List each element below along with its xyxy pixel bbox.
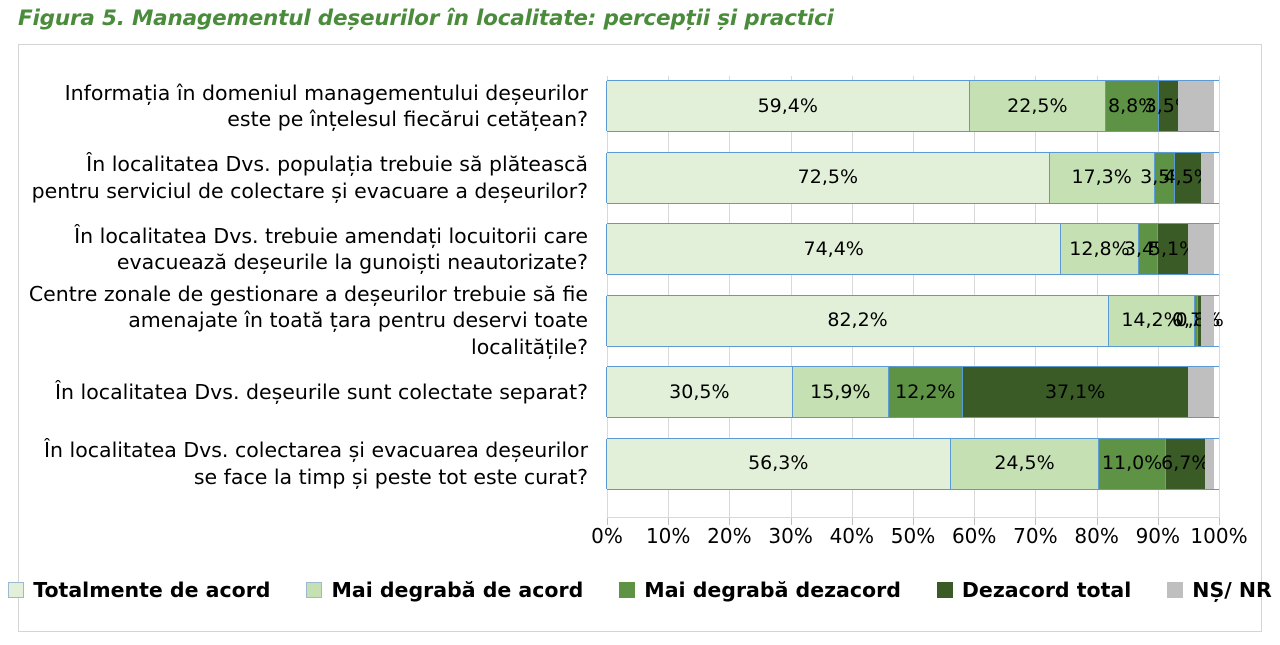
stacked-bar-row[interactable]: 74,4%12,8%3,4%5,1% [607, 223, 1219, 275]
bar-segment[interactable] [1205, 439, 1214, 489]
x-axis-tick-label: 10% [646, 524, 690, 548]
bar-segment[interactable]: 30,5% [606, 367, 793, 417]
stacked-bar-row[interactable]: 82,2%14,2%0,7%0,8% [607, 295, 1219, 347]
bar-segment-label: 56,3% [748, 454, 808, 473]
bar-segment[interactable]: 17,3% [1049, 153, 1155, 203]
figure-page: Figura 5. Managementul deșeurilor în loc… [0, 0, 1280, 645]
x-axis-tick-label: 20% [707, 524, 751, 548]
category-label: În localitatea Dvs. colectarea și evacua… [28, 437, 588, 491]
x-axis-tick-label: 90% [1136, 524, 1180, 548]
category-label: Informația în domeniul managementului de… [28, 79, 588, 133]
x-axis-tick-label: 100% [1190, 524, 1247, 548]
legend-label: Mai degrabă de acord [331, 578, 583, 602]
stacked-bar-row[interactable]: 72,5%17,3%3,5%4,5% [607, 152, 1219, 204]
legend-item[interactable]: Totalmente de acord [8, 578, 270, 602]
legend-item[interactable]: Dezacord total [937, 578, 1131, 602]
bar-segment[interactable]: 37,1% [962, 367, 1189, 417]
bar-segment[interactable] [1201, 296, 1214, 346]
bar-segment[interactable]: 74,4% [606, 224, 1061, 274]
bar-segment-label: 82,2% [827, 311, 887, 330]
bar-segment[interactable] [1188, 224, 1214, 274]
bar-segment-label: 12,8% [1069, 240, 1129, 259]
legend-label: Totalmente de acord [33, 578, 270, 602]
bar-segment[interactable]: 15,9% [792, 367, 889, 417]
legend-label: Mai degrabă dezacord [644, 578, 901, 602]
bar-segment[interactable]: 5,1% [1157, 224, 1188, 274]
gridline [1219, 76, 1220, 518]
category-label: În localitatea Dvs. trebuie amendați loc… [28, 222, 588, 276]
x-axis-tick-labels: 0%10%20%30%40%50%60%70%80%90%100% [607, 524, 1219, 554]
legend-item[interactable]: Mai degrabă dezacord [619, 578, 901, 602]
legend-swatch-icon [1167, 582, 1183, 598]
legend-item[interactable]: Mai degrabă de acord [306, 578, 583, 602]
bar-segment-label: 0,8% [1176, 311, 1224, 330]
bar-segment-label: 22,5% [1007, 97, 1067, 116]
bar-segment[interactable]: 4,5% [1174, 153, 1202, 203]
bar-segment-label: 72,5% [798, 168, 858, 187]
bar-segment[interactable]: 22,5% [969, 81, 1107, 131]
bar-segment-label: 59,4% [758, 97, 818, 116]
x-axis-tick-label: 50% [891, 524, 935, 548]
stacked-bar-row[interactable]: 56,3%24,5%11,0%6,7% [607, 438, 1219, 490]
category-label: În localitatea Dvs. populația trebuie să… [28, 151, 588, 205]
bar-segment[interactable]: 24,5% [950, 439, 1100, 489]
legend-label: Dezacord total [962, 578, 1131, 602]
category-label: În localitatea Dvs. deșeurile sunt colec… [28, 365, 588, 419]
bar-segment-label: 17,3% [1071, 168, 1131, 187]
bar-segment[interactable]: 59,4% [606, 81, 970, 131]
bar-segment[interactable]: 3,5% [1158, 81, 1179, 131]
stacked-bar-row[interactable]: 59,4%22,5%8,8%3,5% [607, 80, 1219, 132]
bar-segment[interactable]: 12,2% [888, 367, 963, 417]
legend-swatch-icon [619, 582, 635, 598]
bar-segment-label: 6,7% [1161, 454, 1209, 473]
legend-swatch-icon [937, 582, 953, 598]
bar-segment-label: 12,2% [895, 383, 955, 402]
x-axis-tick-label: 40% [830, 524, 874, 548]
x-axis-tick-label: 80% [1074, 524, 1118, 548]
plot-inner: 59,4%22,5%8,8%3,5%72,5%17,3%3,5%4,5%74,4… [607, 76, 1219, 518]
x-axis-tick-label: 0% [591, 524, 623, 548]
bar-segment[interactable] [1178, 81, 1213, 131]
bar-segment-label: 15,9% [810, 383, 870, 402]
bar-segment[interactable]: 72,5% [606, 153, 1050, 203]
page-title: Figura 5. Managementul deșeurilor în loc… [18, 6, 1248, 31]
chart-legend: Totalmente de acordMai degrabă de acordM… [0, 578, 1280, 602]
bar-segment[interactable]: 6,7% [1165, 439, 1206, 489]
bar-segment-label: 37,1% [1045, 383, 1105, 402]
category-label: Centre zonale de gestionare a deșeurilor… [28, 294, 588, 348]
bar-segment-label: 24,5% [994, 454, 1054, 473]
bar-segment[interactable]: 56,3% [606, 439, 951, 489]
legend-item[interactable]: NȘ/ NR [1167, 578, 1272, 602]
x-axis-tick-label: 70% [1013, 524, 1057, 548]
stacked-bar-row[interactable]: 30,5%15,9%12,2%37,1% [607, 366, 1219, 418]
bar-segment[interactable]: 82,2% [606, 296, 1109, 346]
chart-plot-area: 59,4%22,5%8,8%3,5%72,5%17,3%3,5%4,5%74,4… [589, 76, 1219, 518]
x-axis-tick-label: 30% [768, 524, 812, 548]
legend-swatch-icon [306, 582, 322, 598]
bar-segment-label: 74,4% [803, 240, 863, 259]
x-axis-tick-label: 60% [952, 524, 996, 548]
legend-swatch-icon [8, 582, 24, 598]
bar-segment[interactable]: 11,0% [1098, 439, 1165, 489]
bar-segment[interactable] [1201, 153, 1214, 203]
bar-segment[interactable] [1188, 367, 1214, 417]
bar-segment-label: 30,5% [669, 383, 729, 402]
bar-segment-label: 11,0% [1102, 454, 1162, 473]
x-axis-line [607, 517, 1219, 518]
legend-label: NȘ/ NR [1192, 578, 1272, 602]
